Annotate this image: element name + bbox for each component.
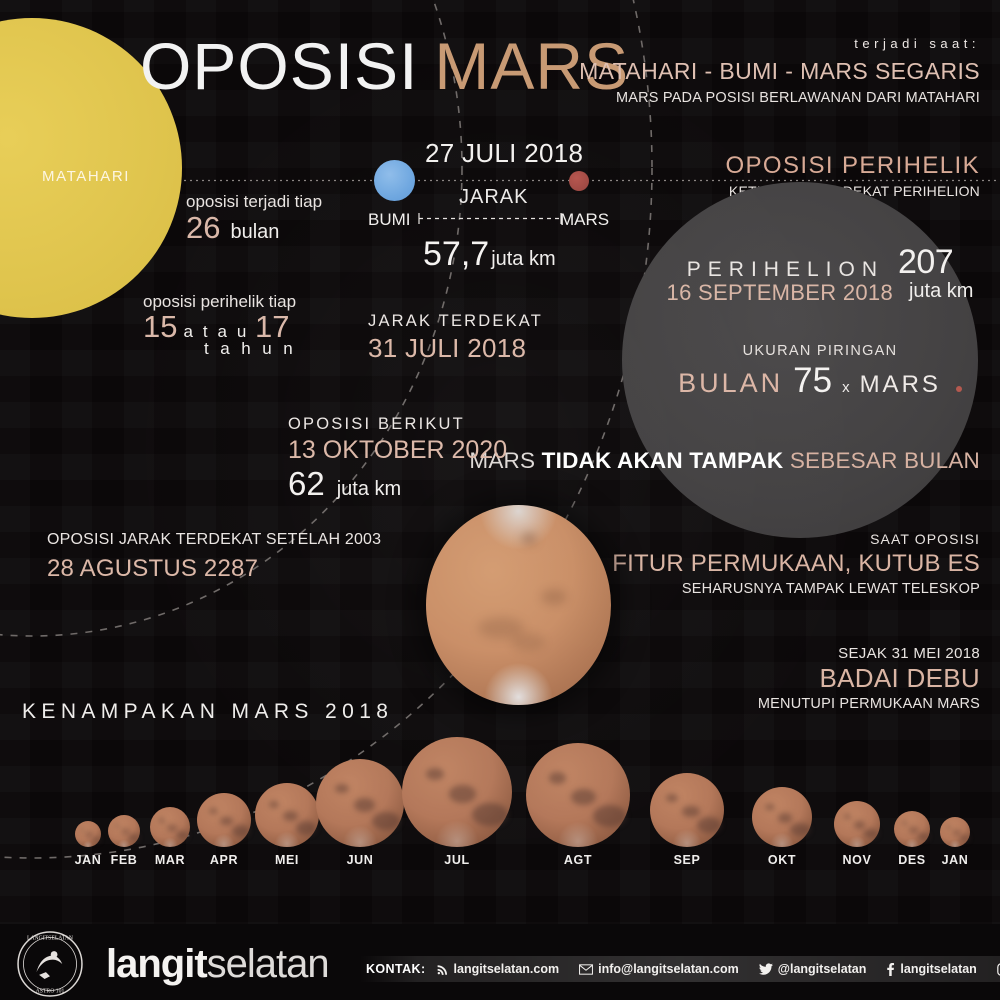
tidak-tampak-statement: MARS TIDAK AKAN TAMPAK SEBESAR BULAN	[469, 448, 980, 474]
terjadi-subline: MARS PADA POSISI BERLAWANAN DARI MATAHAR…	[579, 90, 980, 106]
jarak-terdekat-date: 31 JULI 2018	[368, 333, 543, 364]
oposisi-berikut-value: 62	[288, 465, 325, 503]
mars-dot-icon	[956, 386, 962, 392]
mars-size-item: JAN	[895, 737, 1000, 867]
sun-label: MATAHARI	[42, 168, 130, 185]
perihelik-tiap-block: oposisi perihelik tiap 15a t a u17 t a h…	[143, 292, 296, 359]
mars-disc	[526, 743, 630, 847]
brand-langit: langit	[106, 942, 207, 986]
perihelik-tiap-value-a: 15	[143, 309, 177, 344]
earth-label: BUMI	[368, 210, 411, 230]
oposisi-tiap-label: oposisi terjadi tiap	[186, 192, 322, 212]
terjadi-kicker: terjadi saat:	[579, 36, 980, 51]
mars-disc	[316, 759, 404, 847]
ukuran-mars: MARS	[860, 371, 941, 399]
oposisi-tiap-unit: bulan	[230, 221, 279, 243]
contact-bar: KONTAK: langitselatan.cominfo@langitsela…	[360, 956, 1000, 982]
distance-block: 57,7 juta km	[423, 235, 556, 274]
svg-text:ASTRO 101: ASTRO 101	[36, 989, 65, 995]
perihelion-date: 16 SEPTEMBER 2018	[667, 280, 893, 306]
badai-headline: BADAI DEBU	[758, 663, 980, 694]
footer: LANGITSELATAN ASTRO 101 langitselatan KO…	[0, 924, 1000, 1000]
tidak-part-b: TIDAK AKAN TAMPAK	[542, 448, 790, 473]
perihelion-unit: juta km	[909, 280, 973, 303]
oposisi-tiap-block: oposisi terjadi tiap 26bulan	[186, 192, 322, 246]
mars-photo	[426, 505, 611, 705]
jarak-terdekat-label: JARAK TERDEKAT	[368, 312, 543, 331]
saat-oposisi-subline: SEHARUSNYA TAMPAK LEWAT TELESKOP	[612, 581, 980, 597]
contact-text: langitselatan	[900, 962, 976, 976]
oposisi-berikut-block: OPOSISI BERIKUT 13 OKTOBER 2020 62juta k…	[288, 415, 507, 503]
badai-subline: MENUTUPI PERMUKAAN MARS	[758, 696, 980, 712]
twitter-icon	[759, 963, 773, 975]
kontak-label: KONTAK:	[366, 962, 426, 976]
mars-size-label: JAN	[895, 853, 1000, 867]
mars-label: MARS	[560, 210, 609, 230]
ukuran-piringan-block: UKURAN PIRINGAN BULAN 75 x MARS	[660, 343, 980, 401]
oposisi-berikut-label: OPOSISI BERIKUT	[288, 415, 507, 434]
page-title: OPOSISIMARS	[140, 28, 629, 104]
mars-size-chart: JANFEBMARAPRMEIJUNJULAGTSEPOKTNOVDESJAN	[0, 745, 1000, 915]
perihelion-value: 207	[898, 243, 953, 282]
langitselatan-logo-icon: LANGITSELATAN ASTRO 101	[16, 930, 84, 998]
title-word-oposisi: OPOSISI	[140, 29, 418, 103]
contact-item[interactable]: @langitselatan	[759, 962, 867, 976]
contact-item[interactable]: langitselatan.com	[436, 962, 560, 976]
ukuran-times: x	[842, 379, 850, 396]
jarak-terdekat-block: JARAK TERDEKAT 31 JULI 2018	[368, 312, 543, 364]
ukuran-factor: 75	[793, 361, 832, 401]
tidak-part-c: SEBESAR BULAN	[790, 448, 980, 473]
saat-oposisi-headline: FITUR PERMUKAAN, KUTUB ES	[612, 550, 980, 578]
rss-icon	[436, 963, 449, 976]
mars-size-label: AGT	[518, 853, 638, 867]
distance-value: 57,7	[423, 235, 489, 274]
jarak-label: JARAK	[459, 186, 528, 209]
distance-unit: juta km	[491, 248, 555, 271]
earth-disc	[374, 160, 415, 201]
contact-text: @langitselatan	[778, 962, 867, 976]
terdekat-setelah-block: OPOSISI JARAK TERDEKAT SETELAH 2003 28 A…	[47, 531, 381, 583]
terjadi-saat-block: terjadi saat: MATAHARI - BUMI - MARS SEG…	[579, 36, 980, 106]
mars-disc	[402, 737, 512, 847]
ukuran-bulan: BULAN	[678, 368, 783, 399]
saat-oposisi-kicker: SAAT OPOSISI	[612, 531, 980, 547]
mars-disc	[650, 773, 724, 847]
terdekat-setelah-label: OPOSISI JARAK TERDEKAT SETELAH 2003	[47, 531, 381, 549]
contact-text: langitselatan.com	[454, 962, 560, 976]
kenampakan-heading: KENAMPAKAN MARS 2018	[22, 700, 393, 724]
mars-size-label: JUL	[397, 853, 517, 867]
ukuran-label: UKURAN PIRINGAN	[660, 343, 980, 359]
mail-icon	[579, 963, 593, 976]
mars-size-item: JUL	[397, 737, 517, 867]
terjadi-headline: MATAHARI - BUMI - MARS SEGARIS	[579, 58, 980, 85]
mars-size-item: AGT	[518, 737, 638, 867]
brand-wordmark: langitselatan	[106, 942, 329, 987]
oposisi-berikut-unit: juta km	[337, 478, 401, 501]
oposisi-tiap-value: 26	[186, 210, 220, 245]
badai-debu-block: SEJAK 31 MEI 2018 BADAI DEBU MENUTUPI PE…	[758, 645, 980, 712]
infographic-poster: MATAHARI OPOSISIMARS terjadi saat: MATAH…	[0, 0, 1000, 1000]
perihelion-block: PERIHELION 207 16 SEPTEMBER 2018 juta km	[660, 243, 980, 306]
distance-measure	[419, 213, 561, 224]
mars-disc	[940, 817, 970, 847]
perihelik-title: OPOSISI PERIHELIK	[725, 152, 980, 180]
terdekat-setelah-date: 28 AGUSTUS 2287	[47, 555, 381, 583]
saat-oposisi-block: SAAT OPOSISI FITUR PERMUKAAN, KUTUB ES S…	[612, 531, 980, 597]
contact-text: info@langitselatan.com	[598, 962, 739, 976]
perihelion-label: PERIHELION	[687, 258, 884, 282]
contact-item[interactable]: info@langitselatan.com	[579, 962, 739, 976]
svg-text:LANGITSELATAN: LANGITSELATAN	[27, 936, 73, 942]
opposition-date: 27 JULI 2018	[425, 138, 583, 169]
mars-disc-small	[569, 171, 589, 191]
badai-kicker: SEJAK 31 MEI 2018	[758, 645, 980, 662]
facebook-icon	[886, 963, 895, 976]
oposisi-berikut-date: 13 OKTOBER 2020	[288, 436, 507, 465]
contact-item[interactable]: langitselatan	[886, 962, 976, 976]
brand-selatan: selatan	[207, 942, 329, 986]
